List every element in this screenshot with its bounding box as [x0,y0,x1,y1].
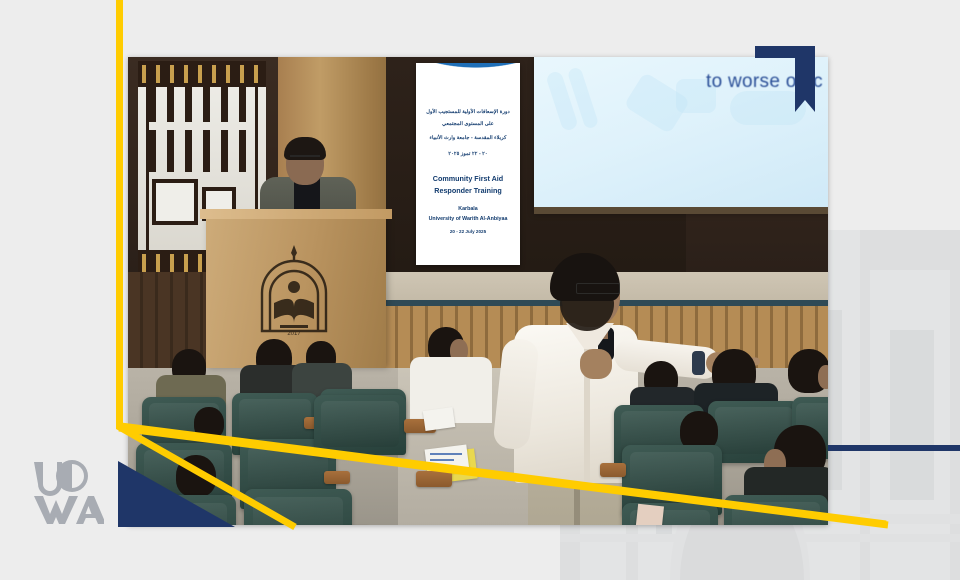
speaker-trouser-seam [574,481,580,525]
banner-arabic-line-1: دورة الإسعافات الأولية للمستجيب الأول [416,109,520,115]
university-emblem: 2017 [250,243,338,339]
attendee-face [818,365,828,389]
banner-arabic-line-4: ٢٠ - ٢٢ تموز ٢٠٢٥ [416,151,520,157]
speaker-glasses [576,283,620,294]
handout-rule [430,459,454,461]
banner-city: Karbala [416,205,520,213]
rollup-banner: دورة الإسعافات الأولية للمستجيب الأول عل… [416,63,520,265]
podium-top [200,209,392,219]
uowa-logo [28,452,104,528]
handout-paper [423,407,455,431]
navy-ribbon-banner [755,46,815,112]
auditorium-chair [724,495,828,525]
handout-rule [430,453,462,455]
chair-armrest [324,471,350,484]
banner-title-line-2: Responder Training [416,185,520,196]
handout-paper [634,504,664,525]
chair-armrest [600,463,626,477]
banner-dates: 20 - 22 July 2025 [416,229,520,234]
attendee-head [176,455,216,497]
chair-armrest [416,471,452,487]
banner-title-line-1: Community First Aid [416,173,520,184]
seated-official-glasses [290,155,320,163]
event-photograph: to worse outc دورة الإسعافات الأولية للم… [128,57,828,525]
auditorium-chair [128,495,236,525]
auditorium-chair [244,489,352,525]
auditorium-chair [314,395,406,455]
banner-arabic-line-3: كربلاء المقدسة - جامعة وارث الأنبياء [416,135,520,141]
banner-arabic-line-2: على المستوى المجتمعي [416,121,520,127]
banner-university: University of Warith Al-Anbiyaa [416,215,520,223]
emblem-year-text: 2017 [287,331,301,337]
speaker-wristwatch [692,351,705,375]
poster-canvas: to worse outc دورة الإسعافات الأولية للم… [0,0,960,580]
attendee-head [194,407,224,439]
speaker-mic-hand [580,349,612,379]
screen-frame-bottom [534,207,828,214]
